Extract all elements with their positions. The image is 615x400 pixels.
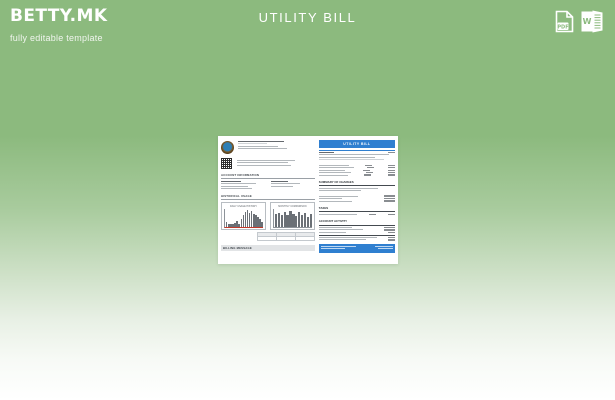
utility-company-seal-icon xyxy=(221,141,234,154)
page-background: BETTY.MK fully editable template UTILITY… xyxy=(0,0,615,400)
activity-line xyxy=(319,232,395,233)
charges-line xyxy=(319,165,395,166)
section-title-billing-message: BILLING MESSAGE xyxy=(221,245,315,251)
charges-line xyxy=(319,167,395,168)
table-row xyxy=(257,237,314,241)
section-title-account-activity: ACCOUNT ACTIVITY xyxy=(319,219,395,223)
document-right-column: UTILITY BILL xyxy=(319,140,395,261)
historical-usage-chart: DAILY USAGE HISTORY xyxy=(221,202,266,230)
pdf-icon[interactable]: PDF xyxy=(555,10,574,38)
activity-line xyxy=(319,229,395,230)
word-icon[interactable]: W xyxy=(581,10,603,38)
bill-header-bar: UTILITY BILL xyxy=(319,140,395,148)
usage-charts: DAILY USAGE HISTORY xyxy=(221,202,315,230)
document-preview[interactable]: ACCOUNT INFORMATION HISTORICAL USAGE xyxy=(218,136,398,264)
activity-line xyxy=(319,227,395,228)
svg-text:PDF: PDF xyxy=(557,24,568,30)
section-title-summary-of-charges: SUMMARY OF CHARGES xyxy=(319,180,395,184)
monthly-comparison-chart-title: MONTHLY COMPARISON xyxy=(273,205,312,208)
payment-stub-bar xyxy=(319,244,395,253)
detail-line xyxy=(319,198,395,199)
activity-line xyxy=(319,239,395,240)
bill-meta-row xyxy=(319,152,395,153)
detail-line xyxy=(319,200,395,201)
format-icons: PDF W xyxy=(555,10,603,38)
activity-line xyxy=(319,237,395,238)
document-left-column: ACCOUNT INFORMATION HISTORICAL USAGE xyxy=(221,140,315,261)
company-address xyxy=(238,140,315,154)
tax-line xyxy=(319,214,395,215)
account-details xyxy=(221,181,315,191)
monthly-comparison-chart: MONTHLY COMPARISON xyxy=(270,202,315,230)
svg-text:W: W xyxy=(583,17,592,26)
qr-note xyxy=(237,158,315,169)
charges-line xyxy=(319,172,395,173)
section-title-taxes: TAXES xyxy=(319,206,395,210)
page-title: UTILITY BILL xyxy=(0,10,615,25)
detail-line xyxy=(319,195,395,196)
section-title-account-information: ACCOUNT INFORMATION xyxy=(221,173,315,179)
charges-line xyxy=(319,170,395,171)
section-title-usage-chart: HISTORICAL USAGE xyxy=(221,194,315,200)
monthly-comparison-plot xyxy=(273,209,312,228)
qr-code-icon xyxy=(221,158,232,169)
qr-block xyxy=(221,158,315,169)
charges-line xyxy=(319,174,395,175)
historical-usage-chart-title: DAILY USAGE HISTORY xyxy=(224,205,263,208)
usage-summary-table xyxy=(257,232,315,241)
historical-usage-plot xyxy=(224,209,263,228)
company-header xyxy=(221,140,315,154)
brand-tagline: fully editable template xyxy=(10,32,250,44)
